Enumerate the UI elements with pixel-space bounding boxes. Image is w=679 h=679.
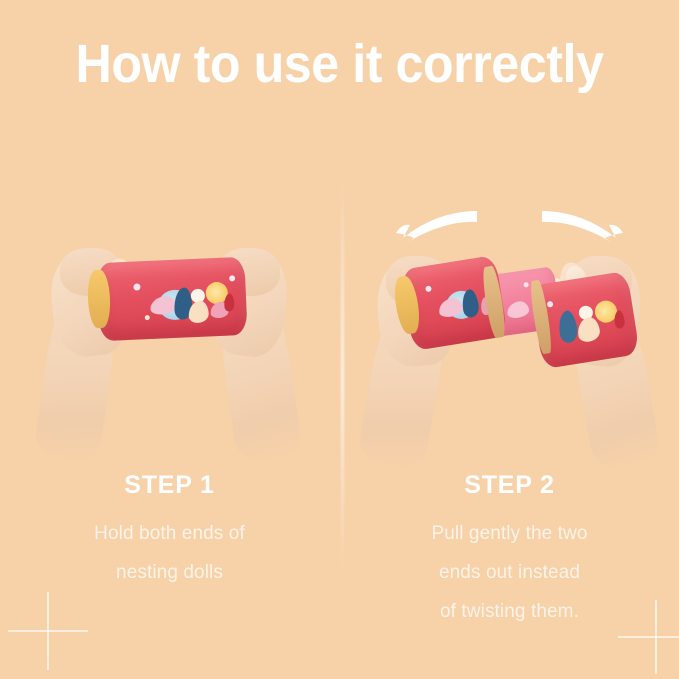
nesting-doll-closed [96, 257, 247, 341]
cross-left-vertical [47, 592, 49, 670]
step-2-illustration [340, 150, 679, 450]
page-title: How to use it correctly [24, 34, 655, 94]
cross-right-horizontal [618, 636, 679, 638]
step-1-illustration [0, 150, 339, 450]
step-1-caption: STEP 1 Hold both ends of nesting dolls [0, 470, 339, 592]
step-1-line-1: Hold both ends of [0, 514, 339, 553]
doll-motif-dot-1 [133, 283, 140, 290]
step-1-label: STEP 1 [0, 470, 339, 500]
step-2-scene [340, 150, 679, 450]
instruction-card: How to use it correctly [0, 0, 679, 679]
cross-right-vertical [655, 600, 657, 674]
doll-motif-dot-2 [229, 275, 235, 281]
inner-motif-dot-2 [523, 282, 529, 288]
right-half-motif-petal-blue [556, 310, 579, 344]
pull-direction-arrows [340, 198, 679, 258]
doll-motif-dot-3 [145, 315, 150, 320]
decoration-cross-right [618, 600, 679, 674]
inner-motif-petal [506, 300, 530, 319]
step-1-description: Hold both ends of nesting dolls [0, 514, 339, 592]
step-2-label: STEP 2 [340, 470, 679, 500]
step-1-scene [0, 150, 339, 450]
step-2-line-1: Pull gently the two [340, 514, 679, 553]
right-half-motif-figure-body [576, 316, 601, 343]
step-1-line-2: nesting dolls [0, 553, 339, 592]
right-half-motif-dot [547, 301, 554, 308]
curved-arrow-right [542, 211, 623, 242]
doll-motif-accent-red [224, 293, 235, 311]
left-half-motif-dot [425, 285, 432, 292]
curved-arrow-left [396, 211, 477, 242]
decoration-cross-left [8, 592, 88, 670]
right-half-motif-accent-red [613, 310, 626, 329]
step-2-line-2: ends out instead [340, 553, 679, 592]
